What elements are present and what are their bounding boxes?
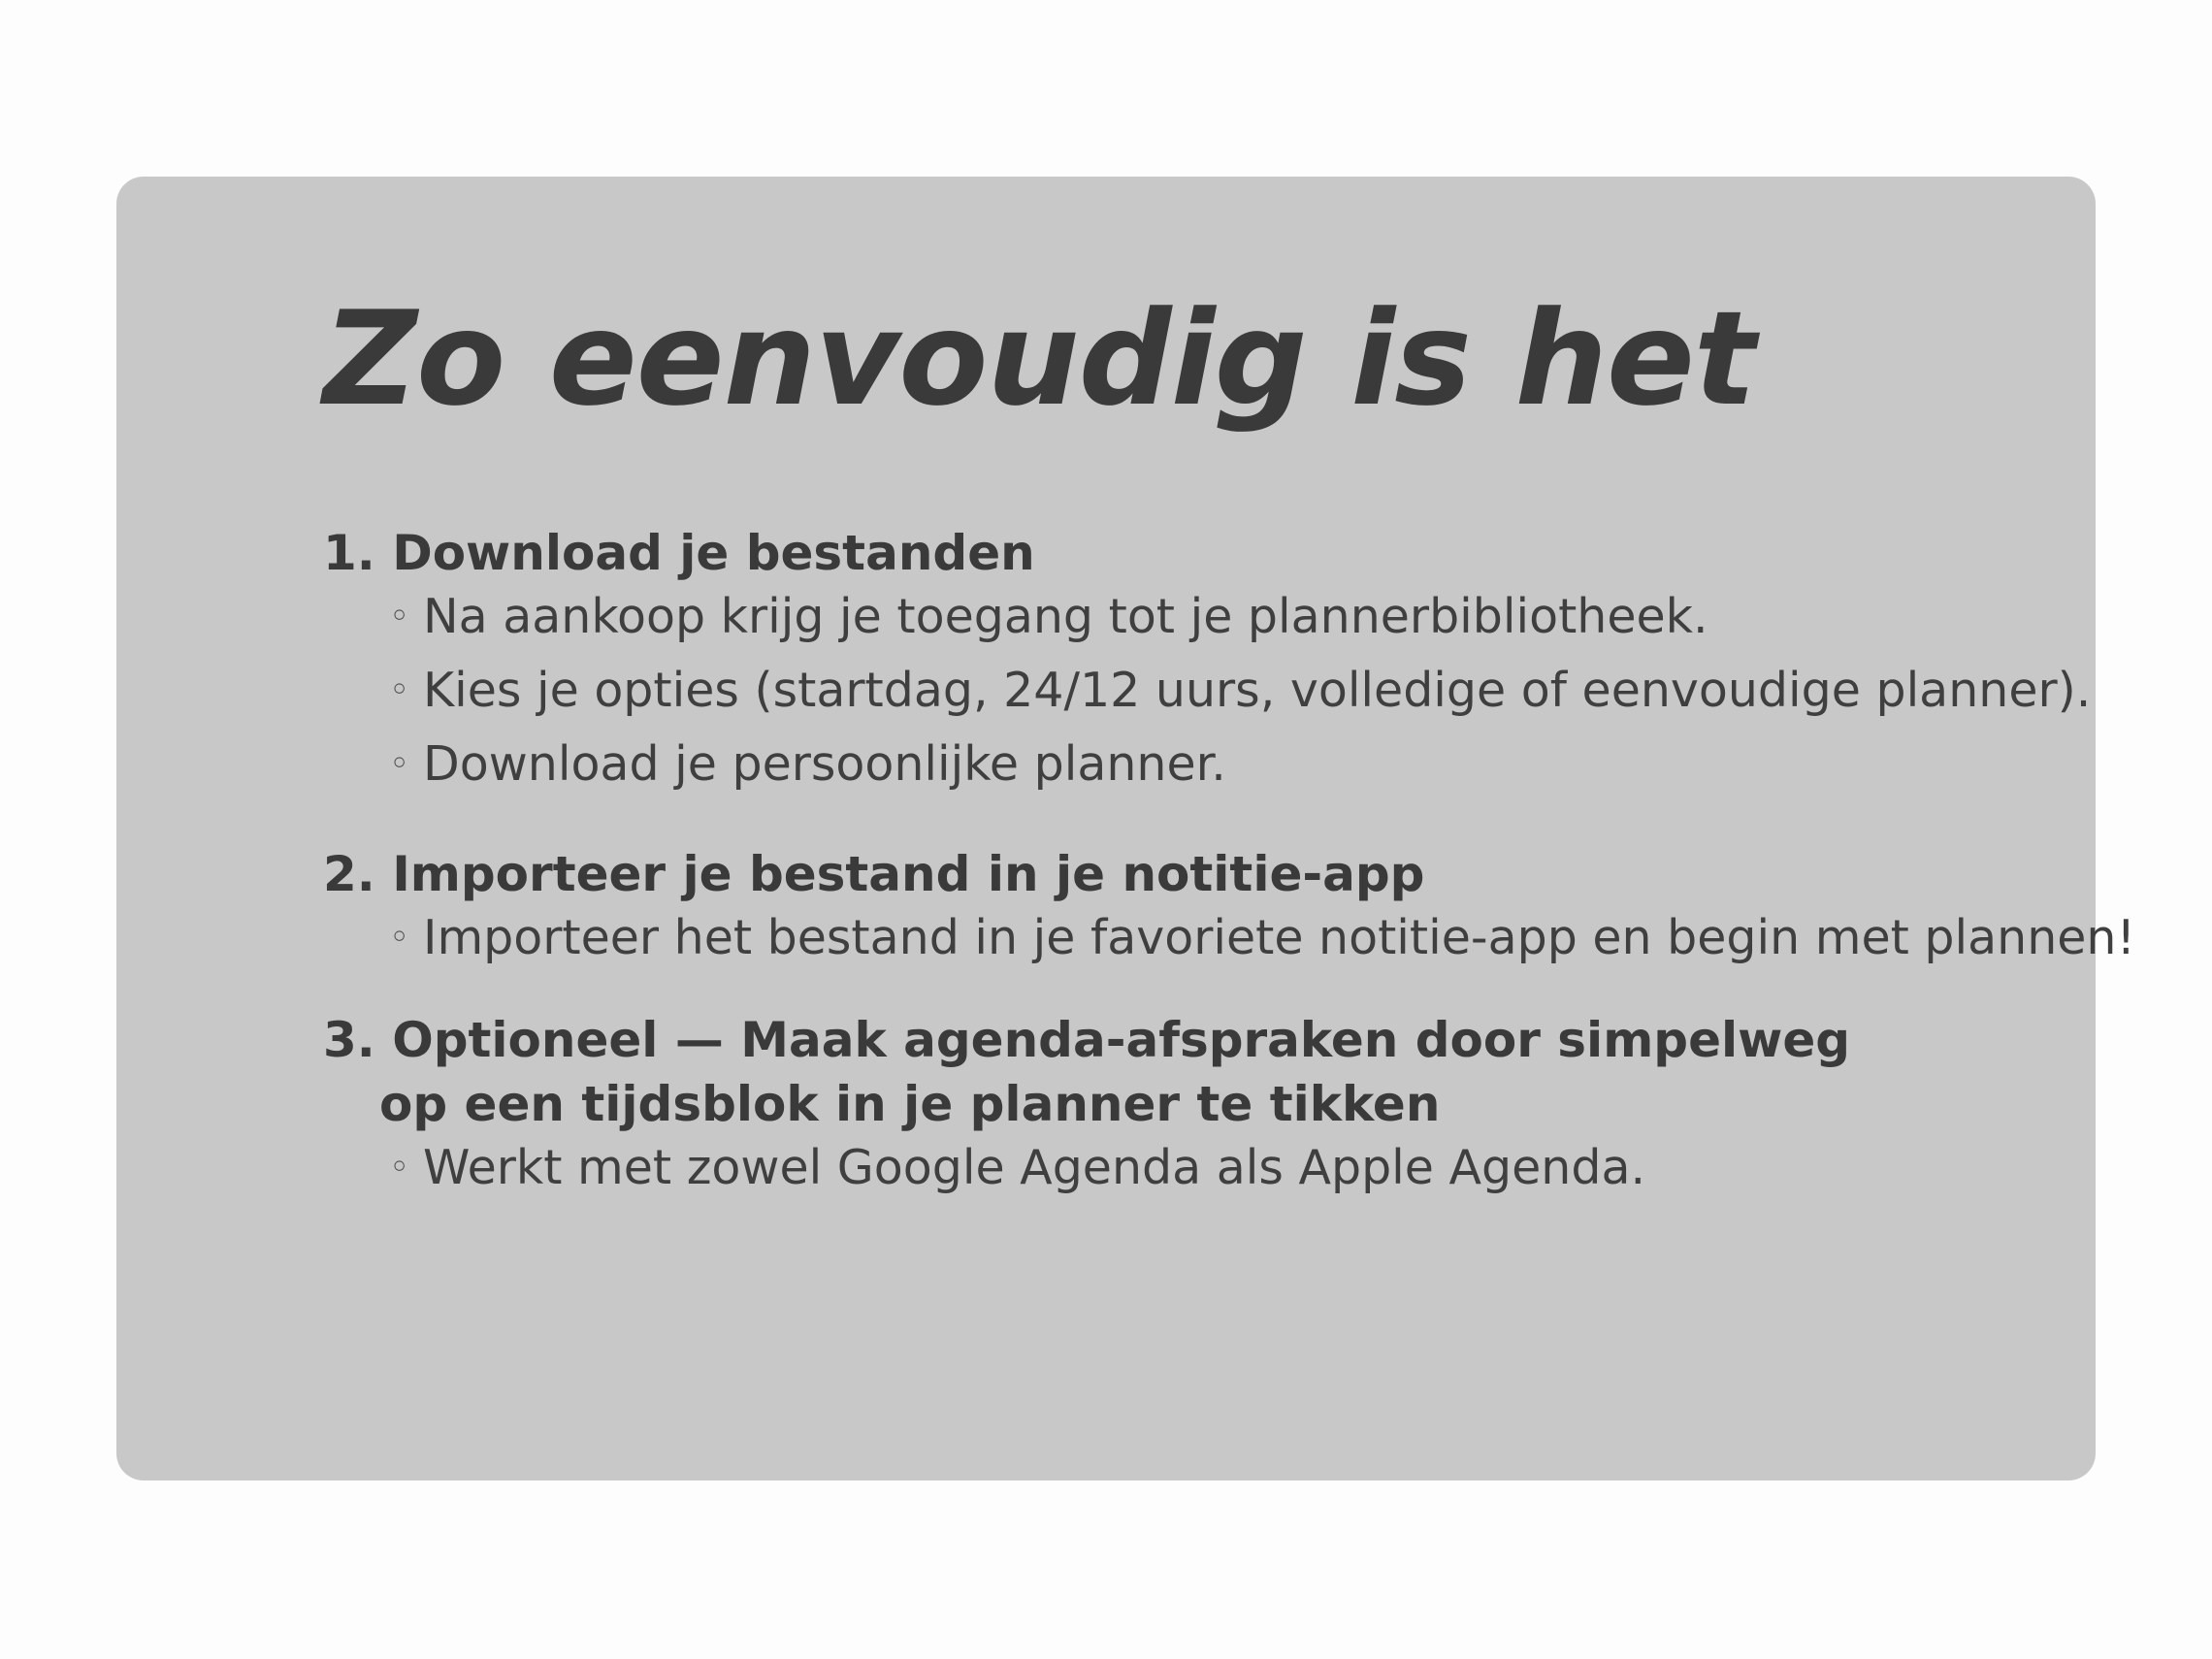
step-item-3: 3. Optioneel — Maak agenda-afspraken doo… bbox=[323, 1008, 2060, 1195]
content-card: Zo eenvoudig is het 1. Download je besta… bbox=[116, 177, 2096, 1480]
list-item: ◦ Importeer het bestand in je favoriete … bbox=[323, 912, 2060, 965]
list-item-label: Na aankoop krijg je toegang tot je plann… bbox=[423, 589, 1708, 644]
list-item-label: Kies je opties (startdag, 24/12 uurs, vo… bbox=[423, 663, 2091, 718]
slide-canvas: Zo eenvoudig is het 1. Download je besta… bbox=[0, 0, 2212, 1659]
list-item-label: Werkt met zowel Google Agenda als Apple … bbox=[423, 1140, 1645, 1195]
list-item-label: Importeer het bestand in je favoriete no… bbox=[423, 910, 2135, 965]
step-3-heading: 3. Optioneel — Maak agenda-afspraken doo… bbox=[323, 1008, 1903, 1136]
list-item: ◦ Werkt met zowel Google Agenda als Appl… bbox=[323, 1142, 2060, 1195]
hollow-circle-bullet-icon: ◦ bbox=[389, 665, 409, 718]
list-item: ◦ Na aankoop krijg je toegang tot je pla… bbox=[323, 591, 2060, 644]
step-2-bullets: ◦ Importeer het bestand in je favoriete … bbox=[323, 912, 2060, 965]
step-item-1: 1. Download je bestanden ◦ Na aankoop kr… bbox=[323, 521, 2060, 792]
step-3-bullets: ◦ Werkt met zowel Google Agenda als Appl… bbox=[323, 1142, 2060, 1195]
list-item-label: Download je persoonlijke planner. bbox=[423, 736, 1226, 792]
hollow-circle-bullet-icon: ◦ bbox=[389, 1142, 409, 1195]
page-title: Zo eenvoudig is het bbox=[323, 291, 1755, 428]
hollow-circle-bullet-icon: ◦ bbox=[389, 591, 409, 644]
step-1-heading: 1. Download je bestanden bbox=[323, 521, 1903, 585]
hollow-circle-bullet-icon: ◦ bbox=[389, 912, 409, 965]
step-item-2: 2. Importeer je bestand in je notitie-ap… bbox=[323, 842, 2060, 965]
list-item: ◦ Download je persoonlijke planner. bbox=[323, 738, 2060, 792]
list-item: ◦ Kies je opties (startdag, 24/12 uurs, … bbox=[323, 665, 2060, 718]
step-2-heading: 2. Importeer je bestand in je notitie-ap… bbox=[323, 842, 1903, 906]
hollow-circle-bullet-icon: ◦ bbox=[389, 738, 409, 792]
steps-list: 1. Download je bestanden ◦ Na aankoop kr… bbox=[323, 521, 2060, 1194]
step-1-bullets: ◦ Na aankoop krijg je toegang tot je pla… bbox=[323, 591, 2060, 792]
